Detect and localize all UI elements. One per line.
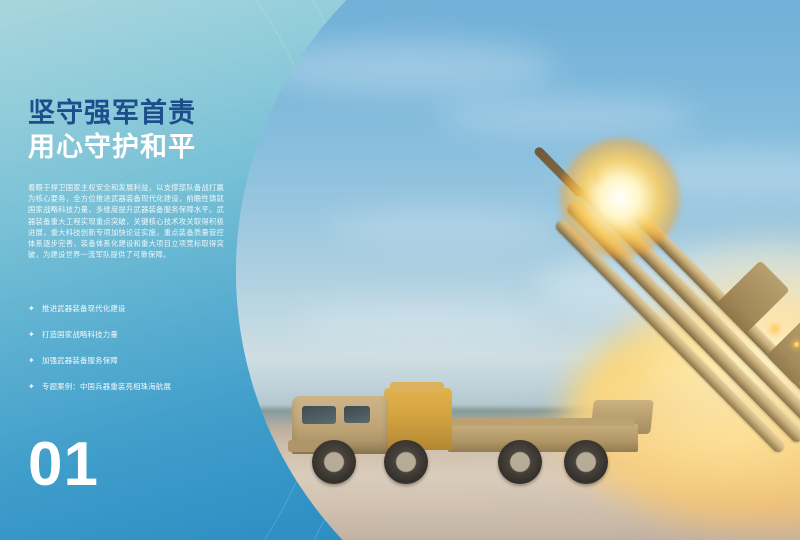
- text-content: 坚守强军首责 用心守护和平 着眼于捍卫国家主权安全和发展利益，以支撑部队备战打赢…: [28, 0, 250, 540]
- photo-circle-mask: [236, 0, 800, 540]
- cloud: [296, 300, 546, 340]
- truck-windshield: [302, 406, 336, 424]
- cloud: [326, 210, 556, 244]
- truck-bonnet: [384, 388, 452, 450]
- ember-spark: [794, 342, 799, 347]
- page-number: 01: [28, 434, 99, 496]
- list-item-label: 专题案例：中国兵器重装亮相珠海航展: [42, 378, 171, 395]
- truck-wheel: [498, 440, 542, 484]
- page-title: 坚守强军首责 用心守护和平: [28, 96, 258, 164]
- list-item-label: 加强武器装备服务保障: [42, 352, 118, 369]
- truck-side-window: [344, 406, 370, 423]
- slide-canvas: 坚守强军首责 用心守护和平 着眼于捍卫国家主权安全和发展利益，以支撑部队备战打赢…: [0, 0, 800, 540]
- launch-flame: [560, 138, 680, 258]
- list-item[interactable]: ✦ 加强武器装备服务保障: [28, 352, 238, 369]
- truck-bed-rail: [452, 418, 634, 426]
- bullet-marker-icon: ✦: [28, 300, 35, 317]
- cloud: [256, 40, 556, 94]
- list-item[interactable]: ✦ 打造国家战略科技力量: [28, 326, 238, 343]
- list-item[interactable]: ✦ 推进武器装备现代化建设: [28, 300, 238, 317]
- body-paragraph: 着眼于捍卫国家主权安全和发展利益，以支撑部队备战打赢为核心要务，全方位推进武器装…: [28, 182, 224, 260]
- bullet-marker-icon: ✦: [28, 326, 35, 343]
- list-item-label: 推进武器装备现代化建设: [42, 300, 126, 317]
- truck-bed: [448, 424, 638, 452]
- launcher-truck: [292, 382, 652, 492]
- headline-line-1: 坚守强军首责: [28, 96, 258, 130]
- rail-clamp: [716, 260, 790, 333]
- hero-photo: [236, 0, 800, 540]
- bullet-list: ✦ 推进武器装备现代化建设 ✦ 打造国家战略科技力量 ✦ 加强武器装备服务保障 …: [28, 300, 238, 404]
- truck-wheel: [312, 440, 356, 484]
- truck-wheel: [384, 440, 428, 484]
- ember-spark: [772, 326, 778, 332]
- list-item[interactable]: ✦ 专题案例：中国兵器重装亮相珠海航展: [28, 378, 238, 395]
- truck-wheel: [564, 440, 608, 484]
- bullet-marker-icon: ✦: [28, 378, 35, 395]
- truck-bonnet-top: [390, 382, 444, 392]
- headline-line-2: 用心守护和平: [28, 130, 258, 164]
- list-item-label: 打造国家战略科技力量: [42, 326, 118, 343]
- bullet-marker-icon: ✦: [28, 352, 35, 369]
